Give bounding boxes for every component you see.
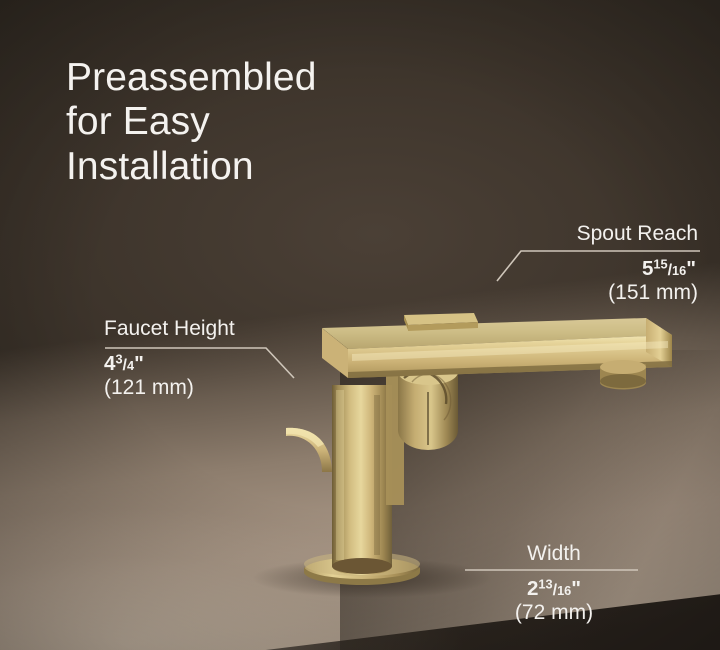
faucet-aerator (600, 360, 646, 390)
callout-spout-reach: Spout Reach 515/16" (151 mm) (577, 222, 698, 305)
callout-faucet-height: Faucet Height 43/4" (121 mm) (104, 317, 235, 400)
callout-spout-reach-metric: (151 mm) (577, 281, 698, 305)
callout-width-imperial: 213/16" (466, 577, 642, 601)
callout-width: Width 213/16" (72 mm) (466, 542, 642, 625)
callout-faucet-height-metric: (121 mm) (104, 376, 235, 400)
callout-width-title: Width (466, 542, 642, 565)
faucet-body (332, 385, 392, 575)
callout-spout-reach-title: Spout Reach (577, 222, 698, 245)
callout-spout-reach-imperial: 515/16" (577, 257, 696, 281)
faucet-handle (286, 428, 332, 472)
page-title: Preassembled for Easy Installation (66, 56, 396, 189)
product-image: Preassembled for Easy Installation Spout… (0, 0, 720, 650)
callout-width-metric: (72 mm) (466, 601, 642, 625)
callout-faucet-height-imperial: 43/4" (104, 352, 235, 376)
callout-faucet-height-title: Faucet Height (104, 317, 235, 340)
